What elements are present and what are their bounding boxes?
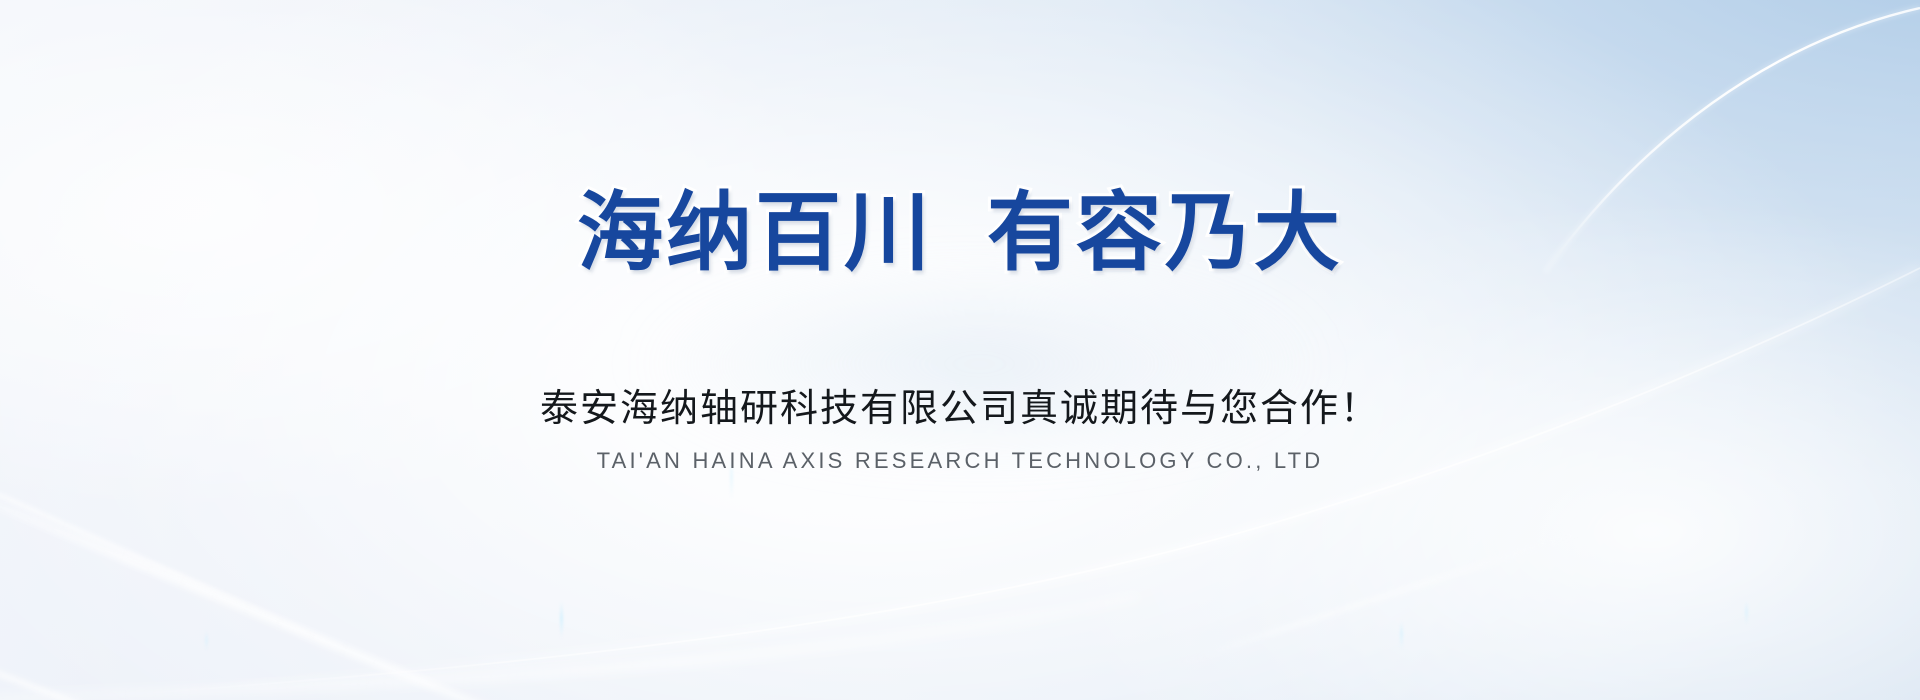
banner-headline: 海纳百川 有容乃大 — [0, 190, 1920, 276]
banner-subtitle-english: TAI'AN HAINA AXIS RESEARCH TECHNOLOGY CO… — [0, 448, 1920, 474]
hero-banner: 海纳百川 有容乃大 泰安海纳轴研科技有限公司真诚期待与您合作！ TAI'AN H… — [0, 0, 1920, 700]
banner-content: 海纳百川 有容乃大 泰安海纳轴研科技有限公司真诚期待与您合作！ TAI'AN H… — [0, 0, 1920, 700]
banner-subtitle-chinese: 泰安海纳轴研科技有限公司真诚期待与您合作！ — [0, 388, 1920, 432]
